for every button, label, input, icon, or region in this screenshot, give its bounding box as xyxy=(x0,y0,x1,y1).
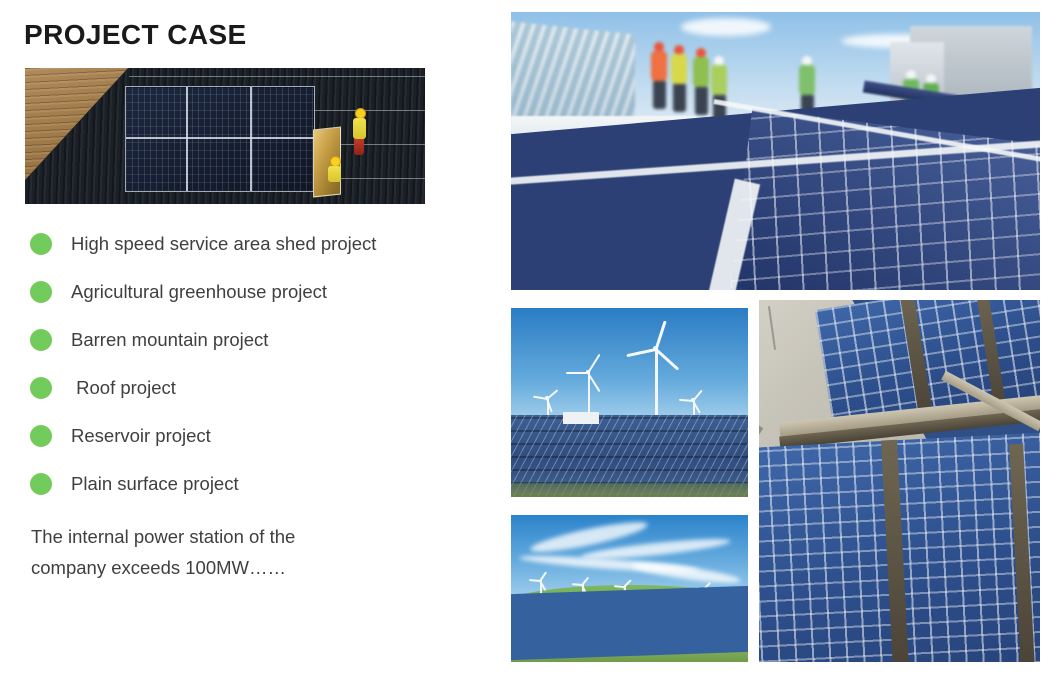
rooftop-crew-photo xyxy=(511,12,1040,290)
tilted-solar-rows xyxy=(511,585,748,660)
worker-figure xyxy=(711,56,727,123)
worker-figure xyxy=(693,48,709,115)
site-shed xyxy=(563,412,599,424)
grass-strip xyxy=(511,483,748,497)
worker-figure xyxy=(651,42,667,109)
glass-facade-building xyxy=(511,21,635,130)
hillside-solar-farm-photo xyxy=(511,515,748,662)
photo-gallery xyxy=(0,0,1060,689)
wind-solar-farm-photo xyxy=(511,308,748,497)
worker-figure xyxy=(671,45,687,112)
cloud-shape xyxy=(681,18,771,36)
road-surface xyxy=(759,356,763,450)
aerial-rooftop-array-photo xyxy=(759,300,1040,662)
